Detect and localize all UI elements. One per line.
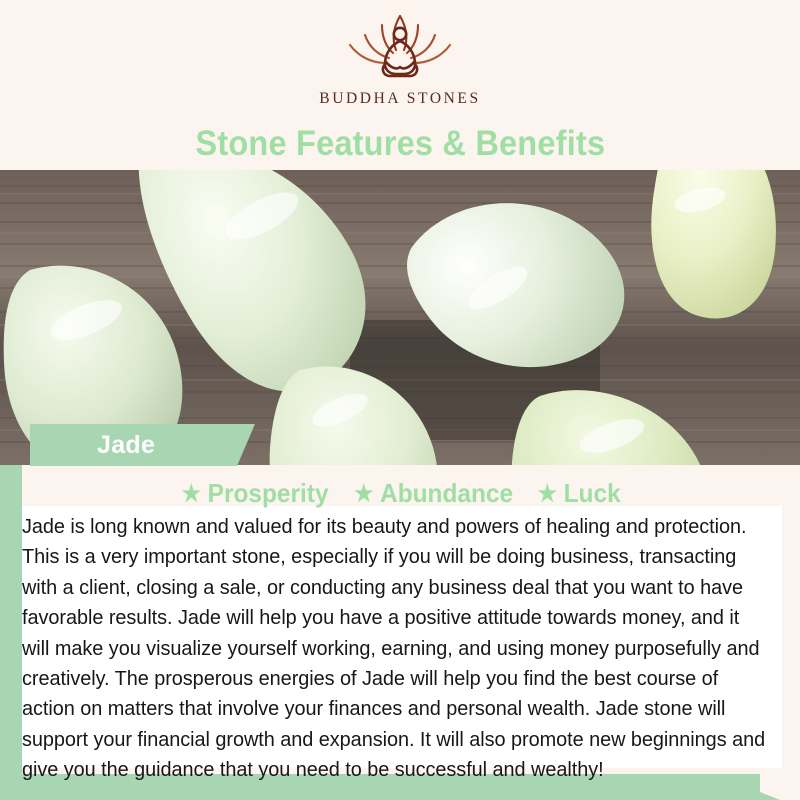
benefit-item-prosperity: ★ Prosperity (182, 478, 329, 509)
benefit-label: Prosperity (208, 478, 329, 509)
brand-header: BUDDHA STONES (0, 0, 800, 120)
star-icon: ★ (537, 482, 556, 505)
stone-name-banner: Jade (30, 424, 255, 466)
star-icon: ★ (182, 482, 201, 505)
benefit-item-abundance: ★ Abundance (354, 478, 513, 509)
page-title: Stone Features & Benefits (195, 124, 605, 164)
page-title-bar: Stone Features & Benefits (0, 118, 800, 170)
benefits-row: ★ Prosperity ★ Abundance ★ Luck (0, 478, 800, 509)
lotus-meditation-icon (341, 12, 459, 84)
hero-image (0, 170, 800, 465)
stone-description: Jade is long known and valued for its be… (22, 512, 771, 786)
infographic-card: BUDDHA STONES Stone Features & Benefits (0, 0, 800, 800)
benefit-label: Luck (563, 478, 620, 509)
brand-name: BUDDHA STONES (319, 90, 480, 108)
benefit-label: Abundance (380, 478, 513, 509)
benefit-item-luck: ★ Luck (537, 478, 620, 509)
star-icon: ★ (354, 482, 373, 505)
stone-name: Jade (97, 431, 155, 460)
